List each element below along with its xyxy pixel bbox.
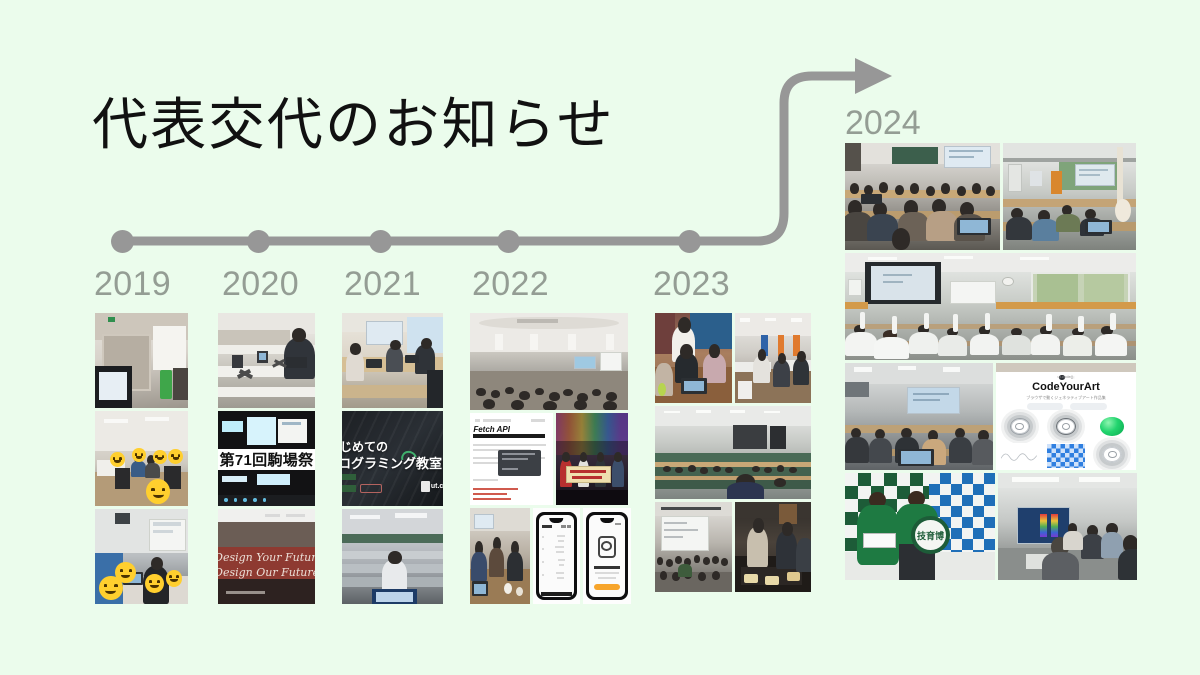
photo-group-photo-whiteboard — [655, 502, 732, 592]
photo-column-2019 — [95, 313, 188, 604]
photo-tiered-lecture-hall — [655, 406, 811, 499]
art-thumb-green-circle[interactable] — [1091, 414, 1133, 440]
photo-gallery-2024: ut.code(); CodeYourArt ブラウザで動くジェネラティブアート… — [845, 143, 1136, 580]
slide-canvas: 代表交代のお知らせ 2019 2020 2021 2022 2023 2024 — [0, 0, 1200, 675]
timeline-dot-2019[interactable] — [111, 230, 134, 253]
art-thumb-spirograph-light[interactable] — [1091, 443, 1133, 469]
codeyourart-subtitle: ブラウザで動くジェネラティブアート作品集 — [996, 395, 1136, 401]
photo-large-hall-audience — [470, 313, 628, 410]
photo-seminar-room-students — [95, 411, 188, 506]
emoji-sticker — [110, 452, 125, 467]
photo-column-2021: じめての ログラミング教室 ut.co — [342, 313, 443, 604]
photo-column-2020: 第71回駒場祭 Design Your Future, Design Our F… — [218, 313, 315, 604]
class-banner-url: ut.co — [431, 483, 443, 490]
photo-workshop-table-laptops — [95, 509, 188, 604]
art-thumb-spirograph-fine[interactable] — [999, 414, 1041, 440]
photo-fetch-api-article: Fetch API — [470, 413, 553, 505]
photo-row-2023-top — [655, 313, 811, 403]
page-title: 代表交代のお知らせ — [92, 93, 615, 157]
photo-stage-award-banner — [556, 413, 628, 505]
photo-classroom-presentation — [845, 363, 993, 470]
timeline-dot-2022[interactable] — [497, 230, 520, 253]
emoji-sticker — [166, 570, 183, 587]
poster-line-2: Design Our Future. — [218, 566, 315, 579]
gallery-row-4: 技育博 — [845, 473, 1136, 580]
class-banner-line2: ログラミング教室 — [342, 453, 442, 472]
photo-column-2023 — [655, 313, 811, 592]
photo-design-your-future-poster: Design Your Future, Design Our Future. — [218, 509, 315, 604]
photo-small-room-demo — [998, 473, 1137, 580]
photo-codeyourart-gallery: ut.code(); CodeYourArt ブラウザで動くジェネラティブアート… — [996, 363, 1136, 470]
timeline-dot-2021[interactable] — [369, 230, 392, 253]
art-thumb-spirograph-dense[interactable] — [1045, 414, 1087, 440]
photo-lab-room-projector — [1003, 143, 1136, 250]
photo-komabasai-festival-slide: 第71回駒場祭 — [218, 411, 315, 506]
festival-banner-text: 第71回駒場祭 — [218, 449, 315, 470]
poster-line-1: Design Your Future, — [218, 551, 315, 564]
photo-school-class-hands-raised — [845, 253, 1136, 360]
photo-meetup-room-laptops — [470, 508, 530, 604]
photo-bright-room-workshop — [342, 313, 443, 408]
article-title: Fetch API — [473, 425, 510, 434]
codeyourart-title: CodeYourArt — [996, 381, 1136, 393]
photo-dinner-social-gathering — [735, 502, 811, 592]
codeyourart-button-create[interactable] — [1070, 403, 1106, 410]
gallery-row-3: ut.code(); CodeYourArt ブラウザで動くジェネラティブアート… — [845, 363, 1136, 470]
year-label-2022: 2022 — [472, 265, 549, 304]
award-name-card — [863, 533, 896, 548]
photo-lecture-hall-laptops — [845, 143, 1000, 250]
award-round-sign: 技育博 — [911, 516, 950, 555]
photo-row-2022-mid: Fetch API — [470, 413, 628, 505]
photo-programming-class-banner: じめての ログラミング教室 ut.co — [342, 411, 443, 506]
photo-award-photocall-giikuhaku: 技育博 — [845, 473, 995, 580]
year-label-2021: 2021 — [344, 265, 421, 304]
timeline-dot-2020[interactable] — [247, 230, 270, 253]
year-label-2024: 2024 — [845, 104, 921, 143]
photo-row-2022-bottom — [470, 508, 628, 604]
photo-mobile-app-screen-onboarding — [583, 508, 631, 604]
photo-lobby-tablet-signage — [95, 313, 188, 408]
year-label-2020: 2020 — [222, 265, 299, 304]
year-label-2019: 2019 — [94, 265, 171, 304]
photo-open-office-hackathon — [735, 313, 811, 403]
emoji-sticker — [153, 450, 167, 464]
photo-mentoring-desk-closeup — [655, 313, 732, 403]
year-label-2023: 2023 — [653, 265, 730, 304]
art-thumb-triangle-tiling[interactable] — [1045, 443, 1087, 469]
gallery-row-1 — [845, 143, 1136, 250]
photo-mobile-app-screen-list — [533, 508, 580, 604]
photo-lecture-hall-back-view — [342, 509, 443, 604]
timeline-dot-2023[interactable] — [678, 230, 701, 253]
art-thumb-sine-wave[interactable] — [999, 443, 1041, 469]
emoji-sticker — [145, 574, 164, 593]
emoji-sticker — [99, 576, 123, 601]
photo-row-2023-bottom — [655, 502, 811, 592]
codeyourart-button-view[interactable] — [1027, 403, 1063, 410]
photo-classroom-desks-laptop — [218, 313, 315, 408]
codeyourart-logo-text: ut.code(); — [996, 374, 1136, 379]
photo-column-2022: Fetch API — [470, 313, 628, 604]
